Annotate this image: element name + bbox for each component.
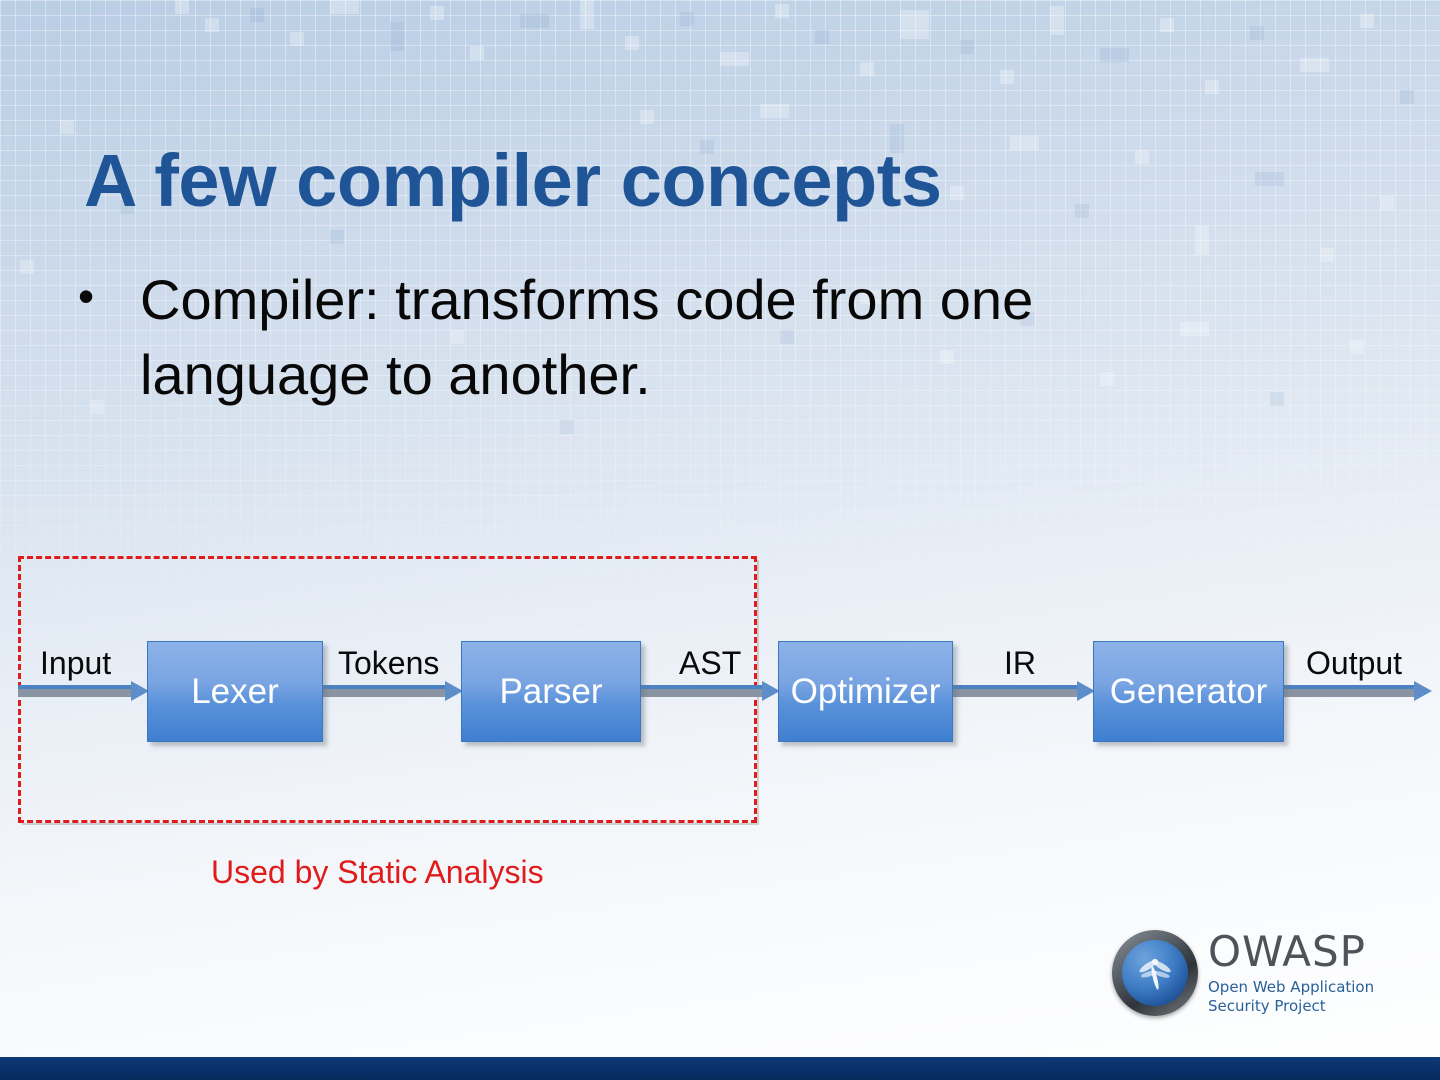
pipeline-stage-parser: Parser — [461, 641, 641, 742]
arrow-shaft — [1283, 685, 1415, 697]
bullet-list: • Compiler: transforms code from one lan… — [78, 262, 1258, 412]
bullet-marker-icon: • — [78, 262, 140, 332]
pipeline-stage-label: Parser — [495, 671, 606, 712]
bullet-text: Compiler: transforms code from one langu… — [140, 262, 1258, 412]
arrow-parser-to-optimizer — [640, 685, 780, 697]
edge-label-tokens: Tokens — [338, 645, 439, 682]
arrow-head-icon — [1414, 681, 1432, 701]
owasp-tagline-line1: Open Web Application — [1208, 978, 1402, 996]
arrow-input-to-lexer — [18, 685, 149, 697]
edge-label-input: Input — [40, 645, 111, 682]
arrow-generator-to-output — [1283, 685, 1432, 697]
owasp-dragonfly-icon — [1112, 930, 1198, 1016]
arrow-shaft — [18, 685, 132, 697]
edge-label-ir: IR — [1004, 645, 1036, 682]
compiler-pipeline-diagram: Lexer Parser Optimizer Generator Input T… — [0, 540, 1440, 900]
arrow-lexer-to-parser — [322, 685, 463, 697]
pipeline-stage-lexer: Lexer — [147, 641, 323, 742]
pipeline-stage-label: Lexer — [187, 671, 283, 712]
owasp-wordmark: OWASP — [1208, 931, 1402, 973]
edge-label-output: Output — [1306, 645, 1402, 682]
owasp-icon-inner — [1122, 940, 1188, 1006]
owasp-tagline-line2: Security Project — [1208, 997, 1402, 1015]
owasp-logo: OWASP Open Web Application Security Proj… — [1112, 922, 1402, 1024]
list-item: • Compiler: transforms code from one lan… — [78, 262, 1258, 412]
pipeline-stage-optimizer: Optimizer — [778, 641, 953, 742]
arrow-shaft — [952, 685, 1078, 697]
owasp-tagline: Open Web Application Security Project — [1208, 978, 1402, 1015]
arrow-shaft — [322, 685, 446, 697]
arrow-shaft — [640, 685, 763, 697]
pipeline-stage-label: Generator — [1106, 671, 1272, 712]
pipeline-stage-generator: Generator — [1093, 641, 1284, 742]
edge-label-ast: AST — [679, 645, 741, 682]
pipeline-stage-label: Optimizer — [787, 671, 945, 712]
region-caption: Used by Static Analysis — [211, 854, 544, 891]
footer-bar — [0, 1057, 1440, 1080]
page-title: A few compiler concepts — [84, 142, 1344, 220]
owasp-wordmark-block: OWASP Open Web Application Security Proj… — [1198, 931, 1402, 1015]
arrow-optimizer-to-generator — [952, 685, 1095, 697]
slide: A few compiler concepts • Compiler: tran… — [0, 0, 1440, 1080]
